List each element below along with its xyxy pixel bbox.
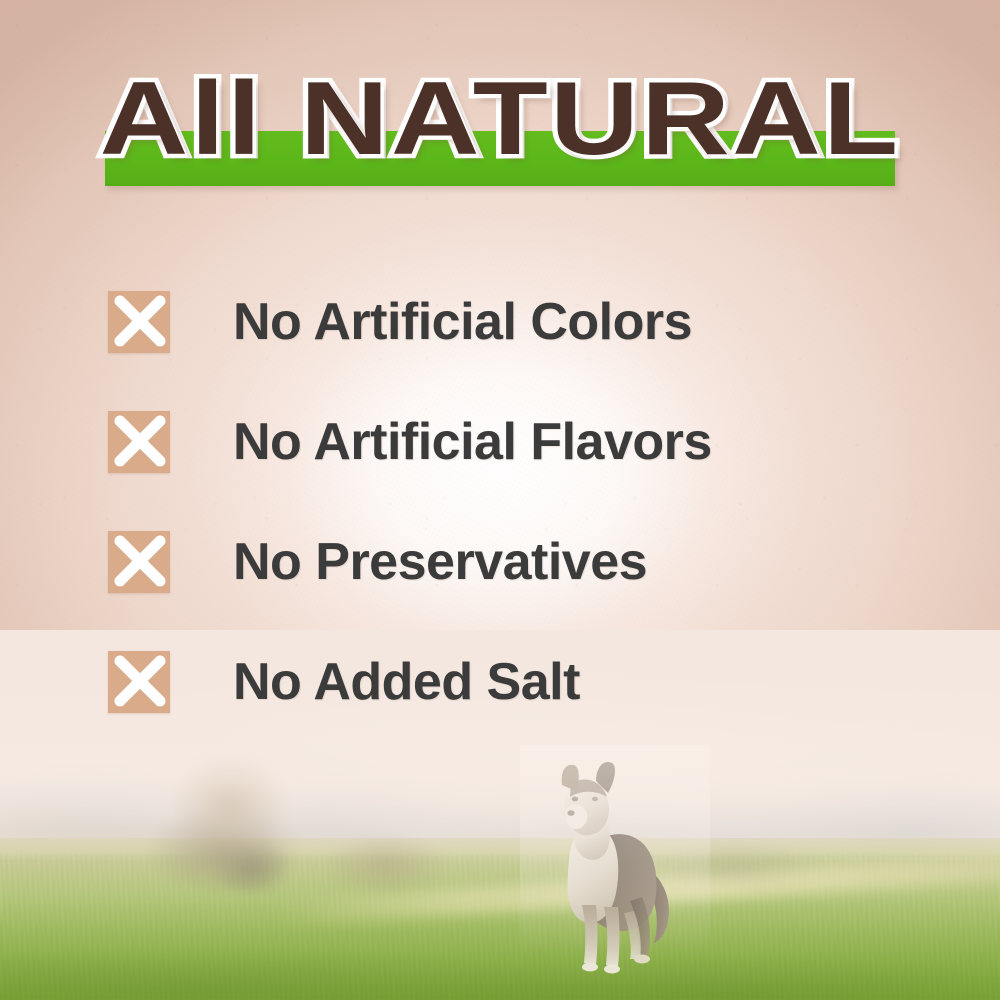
dog-illustration xyxy=(538,755,688,985)
claim-label: No Added Salt xyxy=(233,656,580,708)
list-item: No Artificial Flavors xyxy=(108,382,908,502)
claim-label: No Artificial Colors xyxy=(233,296,692,348)
list-item: No Artificial Colors xyxy=(108,262,908,382)
x-mark-icon xyxy=(108,291,170,353)
claim-label: No Preservatives xyxy=(233,536,647,588)
x-mark-icon xyxy=(108,531,170,593)
x-mark-icon xyxy=(108,651,170,713)
x-mark-icon xyxy=(108,411,170,473)
claim-label: No Artificial Flavors xyxy=(233,416,712,468)
page-title: All NATURAL xyxy=(0,64,1000,174)
list-item: No Preservatives xyxy=(108,502,908,622)
list-item: No Added Salt xyxy=(108,622,908,742)
claims-list: No Artificial Colors No Artificial Flavo… xyxy=(108,262,908,742)
poster-canvas: All NATURAL No Artificial Colors No Arti… xyxy=(0,0,1000,1000)
